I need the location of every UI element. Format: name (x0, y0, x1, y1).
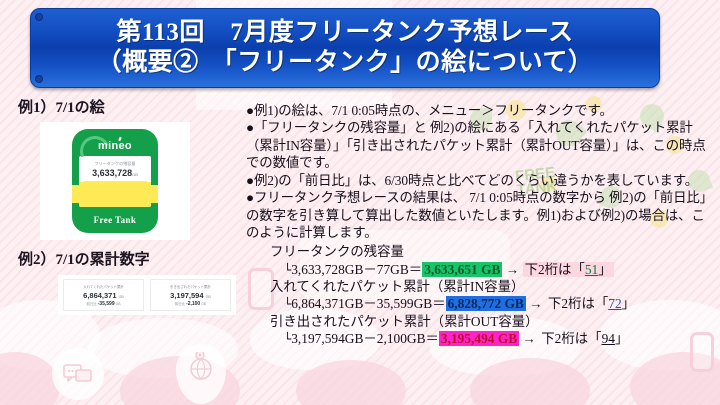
stat-card-in-label: 入れてくれたパケット累計 (83, 284, 123, 289)
stat-card-in-delta-value: -35,599 (98, 301, 115, 307)
calculation-3-tail-suffix: 」 (615, 331, 628, 346)
title-banner: 第113回 7月度フリータンク予想レース （概要② 「フリータンク」の絵について… (30, 8, 660, 88)
mineo-logo: mineo (98, 140, 132, 152)
calculation-1-tail-digits: 51 (585, 262, 598, 277)
calculation-1-tail-suffix: 」 (598, 262, 611, 277)
cumulative-stats-screenshot: 入れてくれたパケット累計 6,864,371 GB 前日比 -35,599 GB… (58, 275, 236, 315)
banner-knob-bottom-left (35, 75, 43, 83)
stat-card-in-delta: 前日比 -35,599 GB (87, 301, 121, 307)
stat-card-out-label: 引き出されたパケット累計 (170, 284, 211, 289)
calculation-1-line: └3,633,728GB－77GB＝3,633,651 GB → 下2桁は「51… (246, 261, 716, 279)
description-paragraph-4: ●フリータンク予想レースの結果は、 7/1 0:05時点の数字から 例2)の「前… (246, 189, 716, 241)
stat-card-in-unit: GB (119, 295, 124, 299)
calculation-3-tail-prefix: 下2桁は「 (541, 331, 601, 346)
calculation-2-tail-digits: 72 (608, 296, 621, 311)
description-paragraph-1: ●例1)の絵は、7/1 0:05時点の、メニュー＞フリータンクです。 (246, 102, 716, 119)
stat-card-in-value: 6,864,371 GB (83, 291, 124, 300)
stat-card-out-delta: 前日比 -2,100 GB (175, 301, 206, 307)
freetank-card: mineo フリータンクの残容量 3,633,728GB 前日比 +77GB F… (72, 129, 158, 233)
description-paragraph-2: ●「フリータンクの残容量」と 例2)の絵にある「入れてくれたパケット累計（累計I… (246, 119, 716, 171)
calculation-1-result: 3,633,651 GB (422, 262, 502, 277)
stat-card-in: 入れてくれたパケット累計 6,864,371 GB 前日比 -35,599 GB (63, 279, 144, 311)
freetank-balance-unit: GB (132, 172, 138, 177)
calculation-3-title: 引き出されたパケット累計（累計OUT容量） (246, 313, 716, 330)
stat-card-out-value: 3,197,594 GB (170, 291, 211, 300)
calculation-1-title: フリータンクの残容量 (246, 243, 716, 260)
stat-card-in-delta-label: 前日比 (87, 302, 97, 306)
stat-card-out-number: 3,197,594 (170, 291, 203, 300)
calculation-1-expression: 3,633,728GB－77GB＝ (291, 262, 422, 277)
calculation-2-result: 6,828,772 GB (446, 296, 526, 311)
stat-card-out-delta-unit: GB (201, 302, 206, 306)
calculation-1-tail: 下2桁は「51」 (523, 262, 614, 277)
calculation-2-tail: 下2桁は「72」 (546, 296, 637, 311)
calculation-2-title: 入れてくれたパケット累計（累計IN容量） (246, 278, 716, 295)
calculation-3-line: └3,197,594GB－2,100GB＝3,195,494 GB → 下2桁は… (246, 330, 716, 348)
chat-bubble-badge (52, 348, 104, 400)
chat-icon (63, 362, 93, 386)
calculation-2-arrow: → (529, 296, 542, 311)
left-column: 例1）7/1の絵 mineo フリータンクの残容量 3,633,728GB (14, 96, 236, 315)
stat-card-out-unit: GB (206, 295, 211, 299)
calculation-1-arrow: → (506, 262, 519, 277)
banner-knob-top-left (35, 13, 43, 21)
calculation-3-tail-digits: 94 (602, 331, 615, 346)
calculation-2-expression: 6,864,371GB－35,599GB＝ (291, 296, 445, 311)
example1-heading: 例1）7/1の絵 (18, 96, 236, 117)
calculation-3-tail: 下2桁は「94」 (539, 331, 630, 346)
stat-card-out-delta-label: 前日比 (175, 302, 185, 306)
calculation-3-expression: 3,197,594GB－2,100GB＝ (291, 331, 439, 346)
right-column: ●例1)の絵は、7/1 0:05時点の、メニュー＞フリータンクです。 ●「フリー… (246, 102, 716, 348)
banner-title-line-2: （概要② 「フリータンク」の絵について） (97, 48, 594, 79)
calculation-block: フリータンクの残容量 └3,633,728GB－77GB＝3,633,651 G… (246, 243, 716, 347)
calculation-3-result: 3,195,494 GB (439, 331, 519, 346)
calculation-2-tail-prefix: 下2桁は「 (548, 296, 608, 311)
description-paragraph-3: ●例2)の「前日比」は、6/30時点と比べてどのくらい違うかを表しています。 (246, 172, 716, 189)
calculation-1-tail-prefix: 下2桁は「 (525, 262, 585, 277)
slide-root: FREE TANK 第113回 7月度フリータンク予想レース （概要② 「フリー… (0, 0, 720, 405)
freetank-yellow-band (72, 185, 158, 203)
stat-card-in-number: 6,864,371 (83, 291, 116, 300)
example2-heading: 例2）7/1の累計数字 (18, 248, 236, 269)
mineo-logo-text: mineo (98, 140, 132, 152)
stat-card-out: 引き出されたパケット累計 3,197,594 GB 前日比 -2,100 GB (150, 279, 231, 311)
freetank-footer-label: Free Tank (72, 215, 158, 225)
freetank-balance-value: 3,633,728GB (79, 168, 151, 178)
freetank-screenshot: mineo フリータンクの残容量 3,633,728GB 前日比 +77GB F… (40, 122, 190, 240)
globe-icon (186, 352, 216, 382)
calculation-2-tail-suffix: 」 (622, 296, 635, 311)
stat-card-out-delta-value: -2,100 (186, 301, 200, 307)
banner-title-line-1: 第113回 7月度フリータンク予想レース (116, 18, 573, 49)
calculation-3-arrow: → (523, 331, 536, 346)
stat-card-in-delta-unit: GB (116, 302, 121, 306)
freetank-balance-number: 3,633,728 (92, 168, 132, 178)
calculation-2-line: └6,864,371GB－35,599GB＝6,828,772 GB → 下2桁… (246, 295, 716, 313)
